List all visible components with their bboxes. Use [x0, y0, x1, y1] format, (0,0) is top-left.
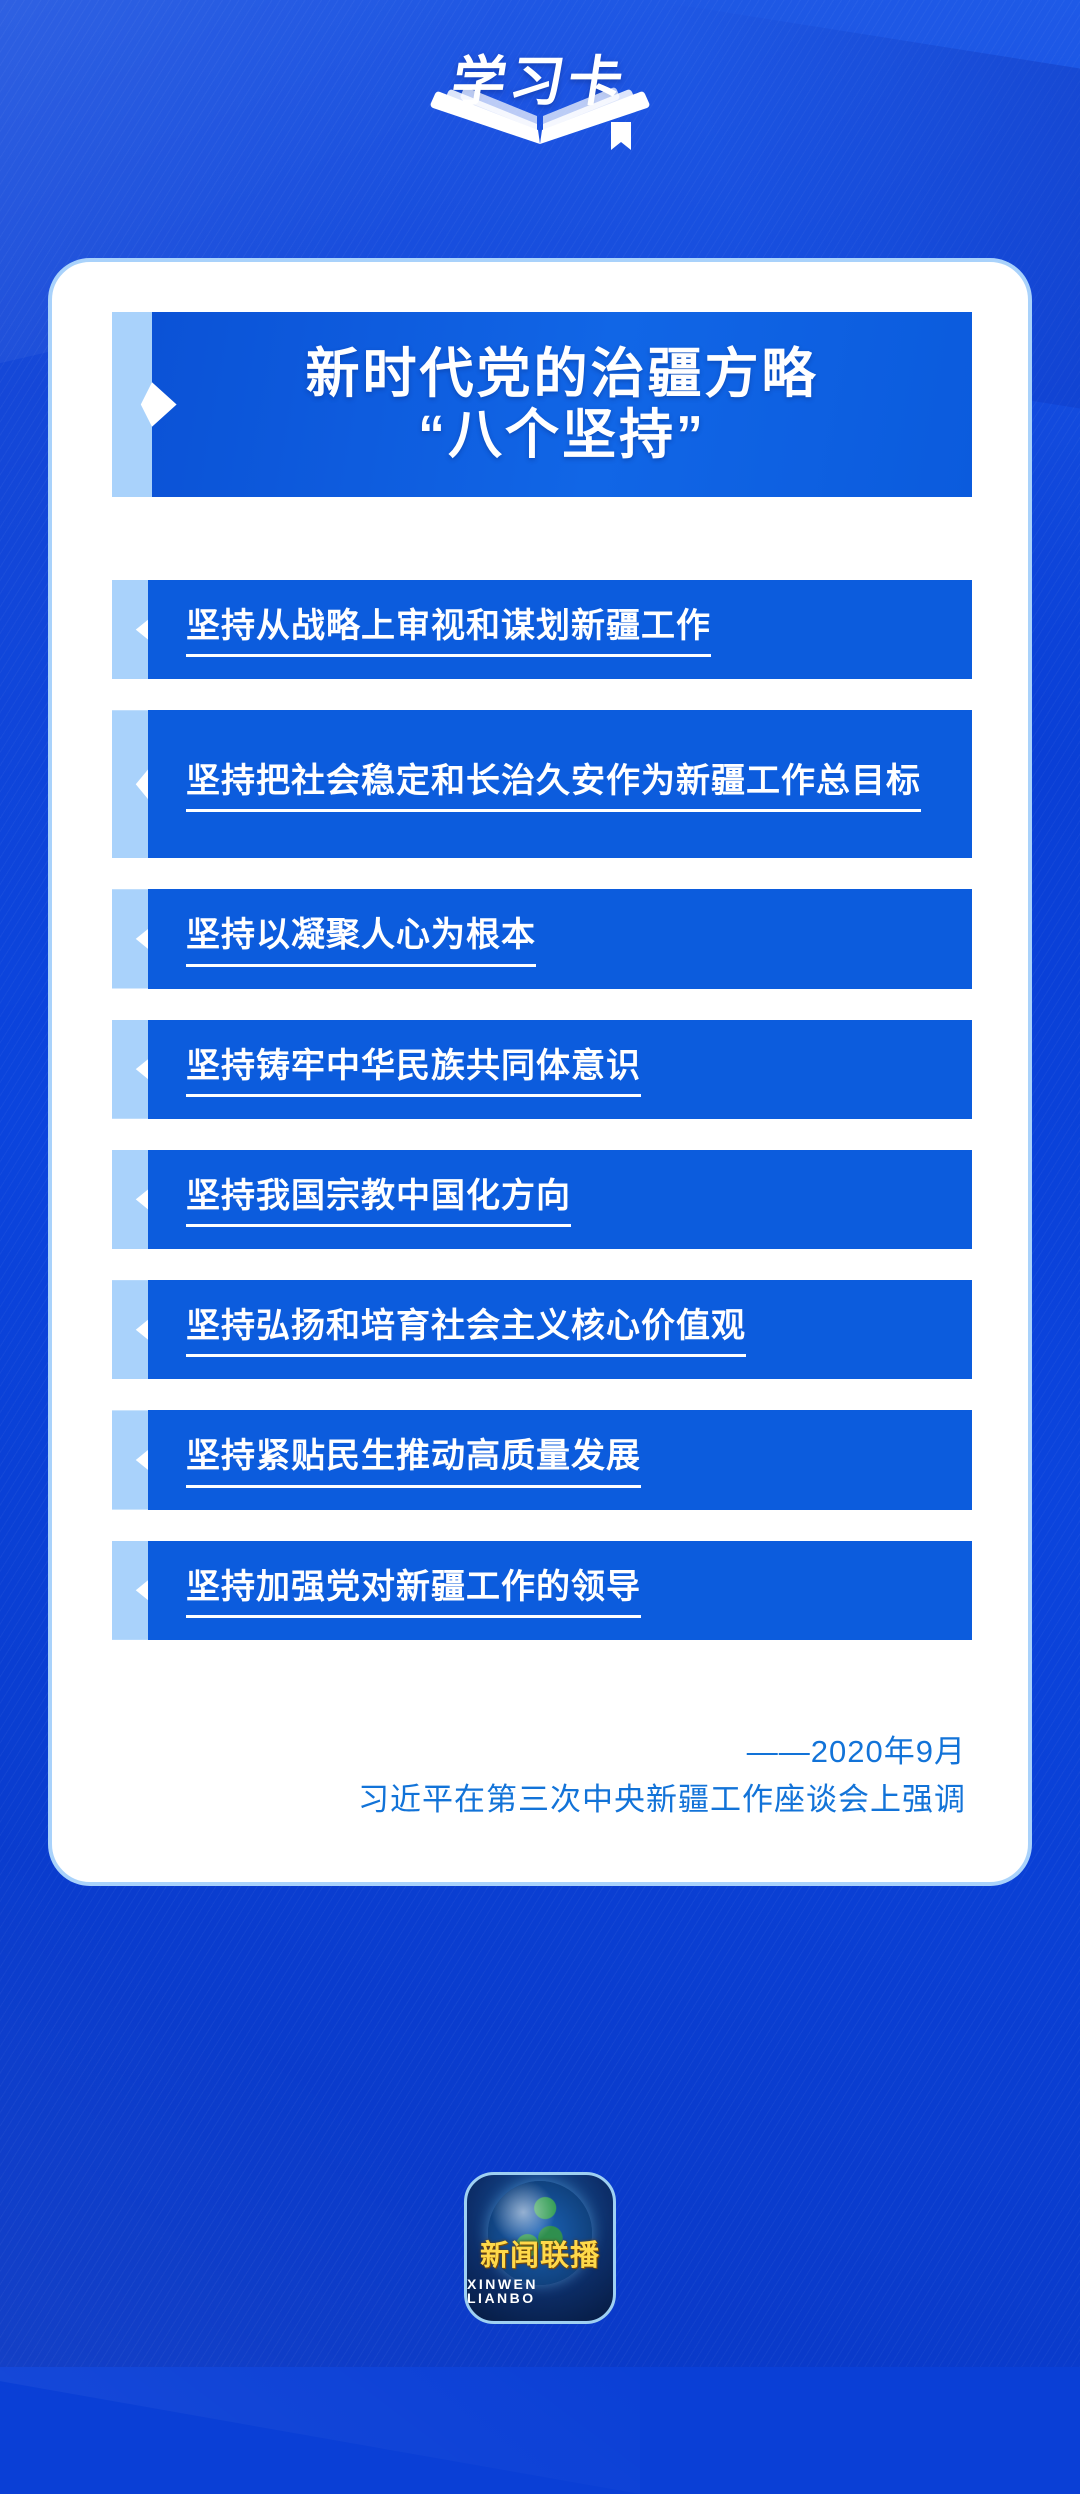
- list-item[interactable]: 坚持铸牢中华民族共同体意识: [112, 1020, 972, 1119]
- list-item-label: 坚持以凝聚人心为根本: [186, 911, 536, 966]
- list-item-bar: 坚持铸牢中华民族共同体意识: [148, 1020, 972, 1119]
- list-item-left-tab: [112, 710, 148, 858]
- list-item-left-tab: [112, 1280, 148, 1379]
- page-title-line1: 新时代党的治疆方略: [306, 344, 819, 404]
- list-item-bar: 坚持加强党对新疆工作的领导: [148, 1541, 972, 1640]
- list-item-label: 坚持把社会稳定和长治久安作为新疆工作总目标: [186, 757, 921, 812]
- list-item-left-tab: [112, 580, 148, 679]
- poster-header: 学习卡: [0, 28, 1080, 163]
- title-banner-left-tab: [112, 312, 152, 497]
- list-item-label: 坚持我国宗教中国化方向: [186, 1172, 571, 1227]
- list-item-bar: 坚持弘扬和培育社会主义核心价值观: [148, 1280, 972, 1379]
- list-item-left-tab: [112, 1020, 148, 1119]
- principles-list: 坚持从战略上审视和谋划新疆工作 坚持把社会稳定和长治久安作为新疆工作总目标 坚持…: [112, 580, 972, 1671]
- list-item[interactable]: 坚持紧贴民生推动高质量发展: [112, 1410, 972, 1509]
- list-item[interactable]: 坚持把社会稳定和长治久安作为新疆工作总目标: [112, 710, 972, 858]
- title-banner: 新时代党的治疆方略 “八个坚持”: [112, 312, 972, 497]
- attribution-source: 习近平在第三次中央新疆工作座谈会上强调: [358, 1776, 966, 1824]
- list-item-bar: 坚持把社会稳定和长治久安作为新疆工作总目标: [148, 710, 972, 858]
- footer-badge[interactable]: 新闻联播 XINWEN LIANBO: [464, 2172, 616, 2324]
- list-item-label: 坚持弘扬和培育社会主义核心价值观: [186, 1302, 746, 1357]
- list-item-label: 坚持加强党对新疆工作的领导: [186, 1563, 641, 1618]
- list-item[interactable]: 坚持弘扬和培育社会主义核心价值观: [112, 1280, 972, 1379]
- list-item[interactable]: 坚持从战略上审视和谋划新疆工作: [112, 580, 972, 679]
- xinwen-lianbo-badge[interactable]: 新闻联播 XINWEN LIANBO: [464, 2172, 616, 2324]
- content-card: 新时代党的治疆方略 “八个坚持” 坚持从战略上审视和谋划新疆工作 坚持把社会稳定…: [48, 258, 1032, 1886]
- list-item-left-tab: [112, 1410, 148, 1509]
- list-item-bar: 坚持以凝聚人心为根本: [148, 889, 972, 988]
- list-item-label: 坚持紧贴民生推动高质量发展: [186, 1432, 641, 1487]
- list-item-left-tab: [112, 889, 148, 988]
- brand-logo: 学习卡: [390, 31, 690, 161]
- list-item-left-tab: [112, 1541, 148, 1640]
- list-item-label: 坚持从战略上审视和谋划新疆工作: [186, 602, 711, 657]
- page-title-line2: “八个坚持”: [418, 405, 706, 465]
- title-banner-body: 新时代党的治疆方略 “八个坚持”: [152, 312, 972, 497]
- list-item[interactable]: 坚持以凝聚人心为根本: [112, 889, 972, 988]
- list-item-bar: 坚持紧贴民生推动高质量发展: [148, 1410, 972, 1509]
- list-item[interactable]: 坚持我国宗教中国化方向: [112, 1150, 972, 1249]
- list-item-bar: 坚持我国宗教中国化方向: [148, 1150, 972, 1249]
- badge-title-en: XINWEN LIANBO: [467, 2277, 613, 2305]
- open-book-icon: [425, 74, 655, 157]
- attribution: ——2020年9月 习近平在第三次中央新疆工作座谈会上强调: [358, 1728, 966, 1824]
- list-item-label: 坚持铸牢中华民族共同体意识: [186, 1042, 641, 1097]
- list-item[interactable]: 坚持加强党对新疆工作的领导: [112, 1541, 972, 1640]
- attribution-date: ——2020年9月: [358, 1728, 966, 1776]
- list-item-left-tab: [112, 1150, 148, 1249]
- badge-title-cn: 新闻联播: [480, 2242, 600, 2271]
- list-item-bar: 坚持从战略上审视和谋划新疆工作: [148, 580, 972, 679]
